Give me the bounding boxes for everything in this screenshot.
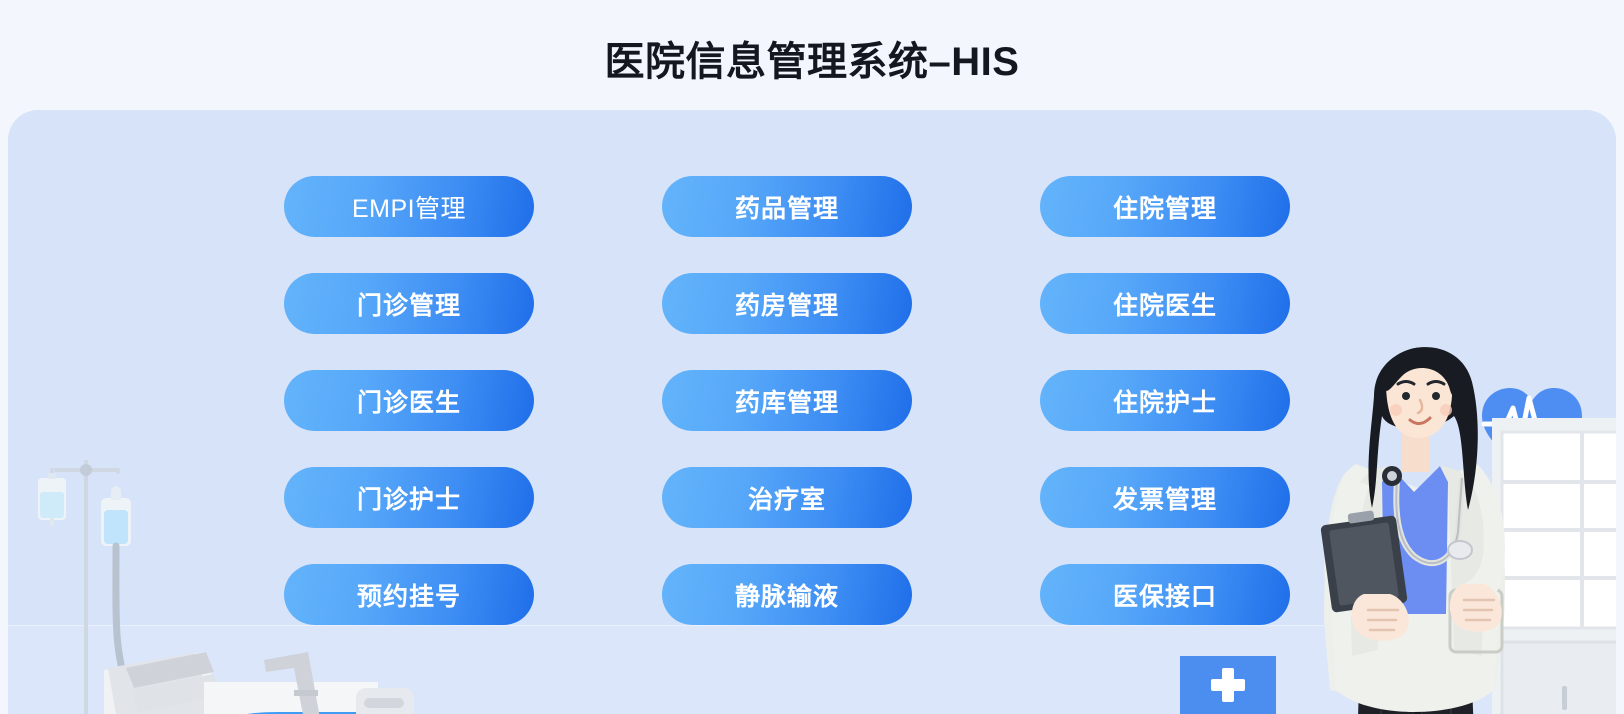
module-button-drug-management[interactable]: 药品管理: [662, 176, 912, 237]
pharmacy-column: 药品管理 药房管理 药库管理 治疗室 静脉输液: [662, 176, 912, 661]
medicine-cabinet-icon: [1492, 418, 1616, 714]
his-landing-page: 医院信息管理系统–HIS: [0, 0, 1624, 714]
module-button-inpatient-management[interactable]: 住院管理: [1040, 176, 1290, 237]
module-button-outpatient-nurse[interactable]: 门诊护士: [284, 467, 534, 528]
cross-horizontal-bar: [1211, 679, 1245, 691]
page-title: 医院信息管理系统–HIS: [0, 34, 1624, 90]
module-button-invoice-management[interactable]: 发票管理: [1040, 467, 1290, 528]
inpatient-column: 住院管理 住院医生 住院护士 发票管理 医保接口: [1040, 176, 1290, 661]
module-button-drug-warehouse-management[interactable]: 药库管理: [662, 370, 912, 431]
module-button-empi-management[interactable]: EMPI管理: [284, 176, 534, 237]
module-button-outpatient-management[interactable]: 门诊管理: [284, 273, 534, 334]
module-button-treatment-room[interactable]: 治疗室: [662, 467, 912, 528]
outpatient-column: EMPI管理 门诊管理 门诊医生 门诊护士 预约挂号: [284, 176, 534, 661]
module-button-outpatient-doctor[interactable]: 门诊医生: [284, 370, 534, 431]
module-button-inpatient-doctor[interactable]: 住院医生: [1040, 273, 1290, 334]
module-button-pharmacy-management[interactable]: 药房管理: [662, 273, 912, 334]
module-button-intravenous-infusion[interactable]: 静脉输液: [662, 564, 912, 625]
doctor-cabinet-illustration: [1286, 220, 1616, 714]
module-button-appointment-registration[interactable]: 预约挂号: [284, 564, 534, 625]
module-button-inpatient-nurse[interactable]: 住院护士: [1040, 370, 1290, 431]
hospital-bed-icon: [104, 652, 428, 714]
module-button-medical-insurance-interface[interactable]: 医保接口: [1040, 564, 1290, 625]
modules-card: EMPI管理 门诊管理 门诊医生 门诊护士 预约挂号 药品管理 药房管理 药库管…: [8, 110, 1616, 714]
medical-cross-icon: [1180, 656, 1276, 714]
